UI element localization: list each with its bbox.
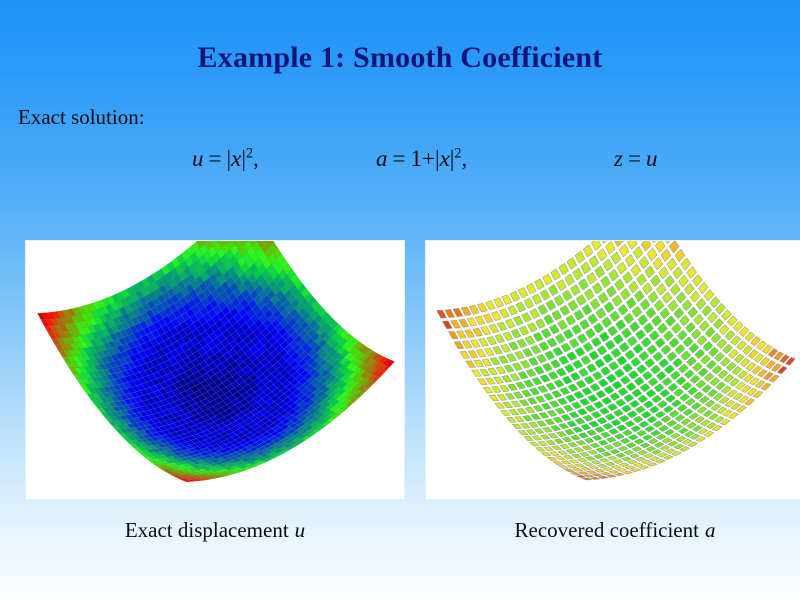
figure-recovered-coefficient [425,240,800,500]
caption-exact-displacement: Exact displacementu [25,518,405,543]
equation-a-trailing: , [462,146,468,171]
equation-u-exponent: 2 [246,145,253,161]
caption-left-symbol: u [289,518,306,542]
equation-u-trailing: , [253,146,259,171]
slide-canvas: Example 1: Smooth Coefficient Exact solu… [0,0,800,600]
equation-u-variable: x [231,146,241,171]
equation-a-lhs: a [376,146,388,171]
equation-u: u=|x|2, [192,146,259,172]
equation-a-exponent: 2 [454,145,461,161]
equation-z-lhs: z [614,146,623,171]
equation-z-operator: = [623,146,646,171]
equation-a-operator: = [388,146,411,171]
equation-z-rhs: u [646,146,658,171]
surface-plot-exact-displacement [26,241,405,500]
figure-exact-displacement [25,240,405,500]
equation-u-operator: = [204,146,227,171]
caption-right-symbol: a [699,518,716,542]
caption-left-text: Exact displacement [125,518,289,542]
caption-right-text: Recovered coefficient [515,518,699,542]
equation-a: a=1+|x|2, [376,146,467,172]
caption-recovered-coefficient: Recovered coefficienta [425,518,800,543]
equation-a-prefix: 1+ [410,146,434,171]
equation-a-variable: x [440,146,450,171]
surface-plot-recovered-coefficient [426,241,800,500]
exact-solution-label: Exact solution: [18,105,145,130]
equation-z: z=u [614,146,657,172]
equation-u-lhs: u [192,146,204,171]
page-title: Example 1: Smooth Coefficient [0,41,800,75]
formula-row: u=|x|2, a=1+|x|2, z=u [0,146,800,186]
